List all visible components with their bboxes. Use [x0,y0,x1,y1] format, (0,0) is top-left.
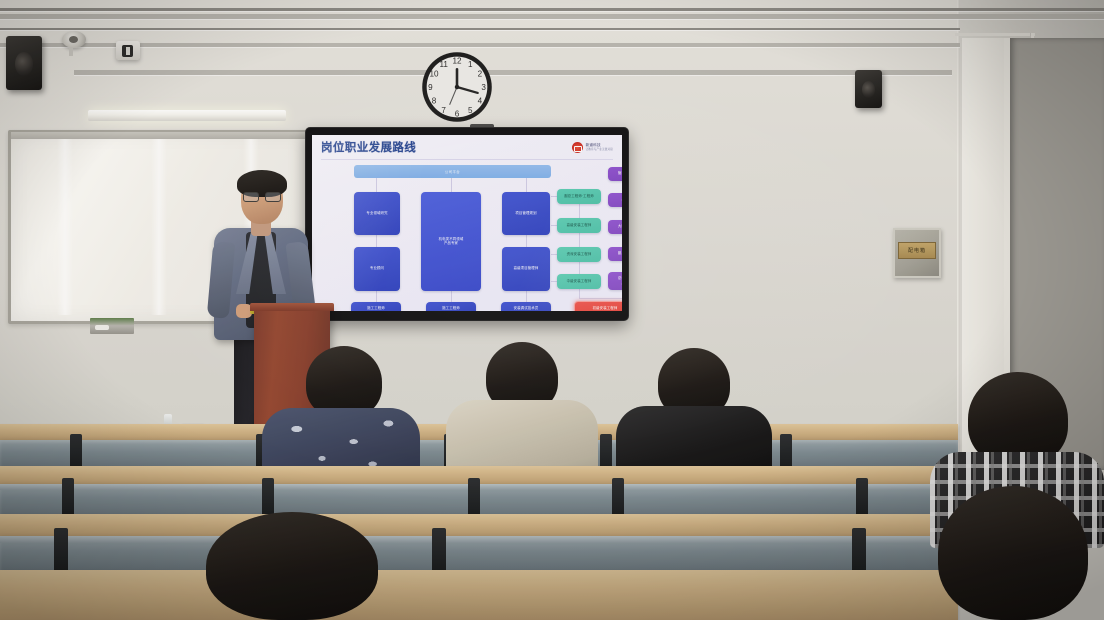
connector [526,291,527,302]
connector [376,178,377,192]
electrical-panel-label: 配电箱 [898,242,936,259]
svg-text:11: 11 [439,60,448,69]
svg-text:2: 2 [478,70,483,79]
connector [526,178,527,192]
node-green-3: 资深安装工程师 [557,247,601,262]
presentation-slide: 岗位职业发展路线 新道科技 让教育与产业无缝对接 [312,135,622,311]
connector [451,178,452,192]
svg-text:6: 6 [455,110,460,119]
career-path-diagram: 公司平台 专业领域研究 专业顾问 机电类不同领域 产品专家 项目管理规划 高级项… [321,165,613,311]
logo-brand-tagline: 让教育与产业无缝对接 [586,149,613,152]
security-camera-lens-icon [122,45,133,57]
svg-text:5: 5 [468,106,473,115]
podium-surface [250,303,334,311]
node-purple-2: 总监 [608,193,622,207]
svg-text:9: 9 [428,83,433,92]
smoke-detector-stem [69,47,73,56]
seat-divider [468,478,480,516]
node-blue-left-2: 专业顾问 [354,247,400,291]
seat-divider [432,528,446,572]
node-purple-4: 副总经理 [608,247,622,261]
fluorescent-light [88,110,286,121]
svg-text:3: 3 [481,83,486,92]
node-purple-5: 总裁助理 总监 [608,272,622,290]
wall-conduit-lower [74,70,952,75]
brand-logo: 新道科技 让教育与产业无缝对接 [572,142,613,153]
wall-conduit-upper [0,43,960,47]
ceiling-conduit-2 [0,14,1104,19]
desk-row-d-top [0,570,958,620]
node-bottom-highlight: 初级安装工程师 [574,301,622,311]
node-blue-right-1: 项目管理规划 [502,192,550,235]
whiteboard-marker [95,325,109,330]
logo-brand-name: 新道科技 [586,144,613,148]
seat-divider [54,528,68,572]
connector [376,291,377,302]
slide-title: 岗位职业发展路线 [321,142,416,155]
svg-text:8: 8 [432,96,437,105]
connector [579,298,622,299]
wall-clock: 1212 345 678 91011 [420,50,494,124]
seat-divider [612,478,624,516]
seat-divider [262,478,274,516]
ceiling-rod-horizontal [955,33,1035,36]
ceiling-conduit-1 [0,8,1104,11]
smoke-detector-icon [62,31,86,48]
presenter-glasses-icon [243,192,281,200]
slide-header: 岗位职业发展路线 新道科技 让教育与产业无缝对接 [321,142,613,160]
logo-mark-icon [572,142,583,153]
connector [526,235,527,247]
node-purple-1: 管理岗位 [608,167,622,181]
seat-divider [852,528,866,572]
student-dark-foreground-head [938,486,1088,620]
student-foreground-left-head [206,512,378,620]
ceiling-conduit-3 [0,28,960,30]
node-blue-right-2: 高级项目管理师 [502,247,550,291]
wall-speaker-left [6,36,42,90]
node-bottom-1: 施工工程师 [351,302,401,311]
connector [451,291,452,302]
connector [376,235,377,247]
svg-text:1: 1 [468,60,473,69]
desk-row-c-rail [0,536,958,543]
svg-text:4: 4 [478,96,483,105]
node-green-4: 中级安装工程师 [557,274,601,289]
wall-display[interactable]: 岗位职业发展路线 新道科技 让教育与产业无缝对接 [306,128,628,320]
desk-row-c-top [0,514,958,536]
seat-divider [70,434,82,468]
node-green-1: 副总工程师·工程师 [557,189,601,204]
node-blue-center: 机电类不同领域 产品专家 [421,192,481,291]
node-blue-left-1: 专业领域研究 [354,192,400,235]
classroom-scene: 1212 345 678 91011 配电箱 岗位 [0,0,1104,620]
seat-divider [62,478,74,516]
svg-text:7: 7 [441,106,446,115]
svg-text:10: 10 [430,70,440,79]
node-green-2: 高级安装工程师 [557,218,601,233]
wall-speaker-right [855,70,882,108]
seat-divider [600,434,612,468]
node-bottom-3: 安装调试技术员 [501,302,551,311]
node-purple-3: 大区总监 [608,220,622,234]
svg-text:12: 12 [452,56,462,65]
seat-divider [780,434,792,468]
electrical-panel[interactable]: 配电箱 [893,228,941,278]
diagram-band: 公司平台 [354,165,551,178]
seat-divider [856,478,868,516]
node-bottom-2: 施工工程师 [426,302,476,311]
